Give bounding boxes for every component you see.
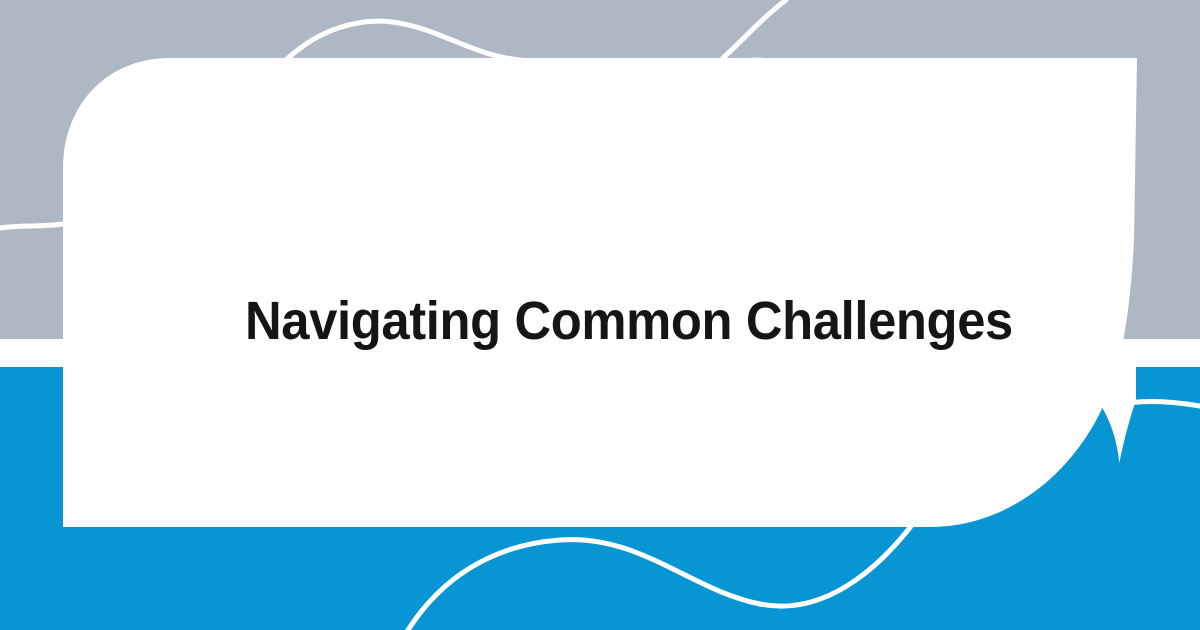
share-card-canvas: Navigating Common Challenges: [0, 0, 1200, 630]
blue-right-fill: [1100, 367, 1200, 630]
left-wave-line: [0, 224, 63, 228]
white-content-card: [63, 58, 1137, 527]
decorative-artwork: [0, 0, 1200, 630]
card-bottom-gap: [0, 339, 63, 367]
